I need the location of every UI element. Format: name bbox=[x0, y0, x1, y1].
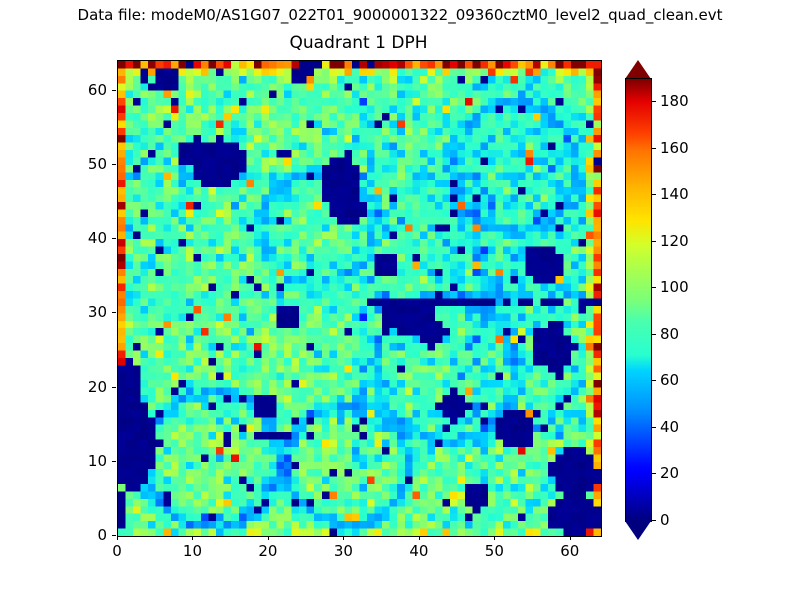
y-tick-mark-60 bbox=[112, 90, 116, 91]
page-title: Quadrant 1 DPH bbox=[117, 33, 600, 54]
colorbar-tick-label-60: 60 bbox=[660, 372, 679, 388]
colorbar-tick-mark-100 bbox=[651, 287, 656, 288]
colorbar-tick-label-20: 20 bbox=[660, 465, 679, 481]
x-tick-mark-40 bbox=[419, 536, 420, 540]
colorbar-tick-mark-0 bbox=[651, 520, 656, 521]
x-tick-mark-60 bbox=[570, 536, 571, 540]
x-tick-mark-10 bbox=[192, 536, 193, 540]
x-tick-mark-0 bbox=[117, 536, 118, 540]
colorbar[interactable] bbox=[625, 78, 652, 522]
x-tick-label-0: 0 bbox=[87, 543, 147, 559]
x-tick-mark-30 bbox=[343, 536, 344, 540]
colorbar-tick-label-180: 180 bbox=[660, 93, 689, 109]
y-tick-mark-50 bbox=[112, 164, 116, 165]
figure-canvas: Data file: modeM0/AS1G07_022T01_90000013… bbox=[0, 0, 800, 600]
colorbar-tick-label-0: 0 bbox=[660, 512, 670, 528]
y-tick-label-20: 20 bbox=[55, 379, 107, 395]
y-tick-label-0: 0 bbox=[55, 527, 107, 543]
colorbar-extend-max-arrow bbox=[625, 60, 651, 79]
colorbar-extend-min-arrow bbox=[625, 521, 651, 540]
detector-heatmap[interactable] bbox=[118, 61, 601, 536]
x-tick-label-40: 40 bbox=[389, 543, 449, 559]
colorbar-tick-label-80: 80 bbox=[660, 326, 679, 342]
y-tick-label-30: 30 bbox=[55, 304, 107, 320]
y-tick-label-60: 60 bbox=[55, 82, 107, 98]
y-tick-mark-20 bbox=[112, 387, 116, 388]
x-tick-mark-50 bbox=[494, 536, 495, 540]
colorbar-tick-mark-160 bbox=[651, 148, 656, 149]
colorbar-tick-mark-40 bbox=[651, 427, 656, 428]
y-tick-mark-30 bbox=[112, 312, 116, 313]
colorbar-tick-mark-60 bbox=[651, 380, 656, 381]
y-tick-label-10: 10 bbox=[55, 453, 107, 469]
colorbar-tick-label-120: 120 bbox=[660, 233, 689, 249]
colorbar-tick-label-100: 100 bbox=[660, 279, 689, 295]
y-tick-mark-10 bbox=[112, 461, 116, 462]
colorbar-tick-mark-20 bbox=[651, 473, 656, 474]
colorbar-gradient bbox=[626, 79, 651, 521]
colorbar-tick-label-40: 40 bbox=[660, 419, 679, 435]
heatmap-axes[interactable] bbox=[117, 60, 602, 537]
colorbar-tick-mark-140 bbox=[651, 194, 656, 195]
y-tick-mark-0 bbox=[112, 535, 116, 536]
x-tick-label-50: 50 bbox=[464, 543, 524, 559]
colorbar-tick-mark-120 bbox=[651, 241, 656, 242]
x-tick-label-20: 20 bbox=[238, 543, 298, 559]
y-tick-label-40: 40 bbox=[55, 230, 107, 246]
x-tick-label-30: 30 bbox=[313, 543, 373, 559]
x-tick-label-10: 10 bbox=[162, 543, 222, 559]
colorbar-tick-mark-80 bbox=[651, 334, 656, 335]
x-tick-label-60: 60 bbox=[540, 543, 600, 559]
colorbar-tick-label-140: 140 bbox=[660, 186, 689, 202]
y-tick-mark-40 bbox=[112, 238, 116, 239]
colorbar-tick-label-160: 160 bbox=[660, 140, 689, 156]
x-tick-mark-20 bbox=[268, 536, 269, 540]
colorbar-tick-mark-180 bbox=[651, 101, 656, 102]
data-file-label: Data file: modeM0/AS1G07_022T01_90000013… bbox=[0, 5, 800, 25]
y-tick-label-50: 50 bbox=[55, 156, 107, 172]
